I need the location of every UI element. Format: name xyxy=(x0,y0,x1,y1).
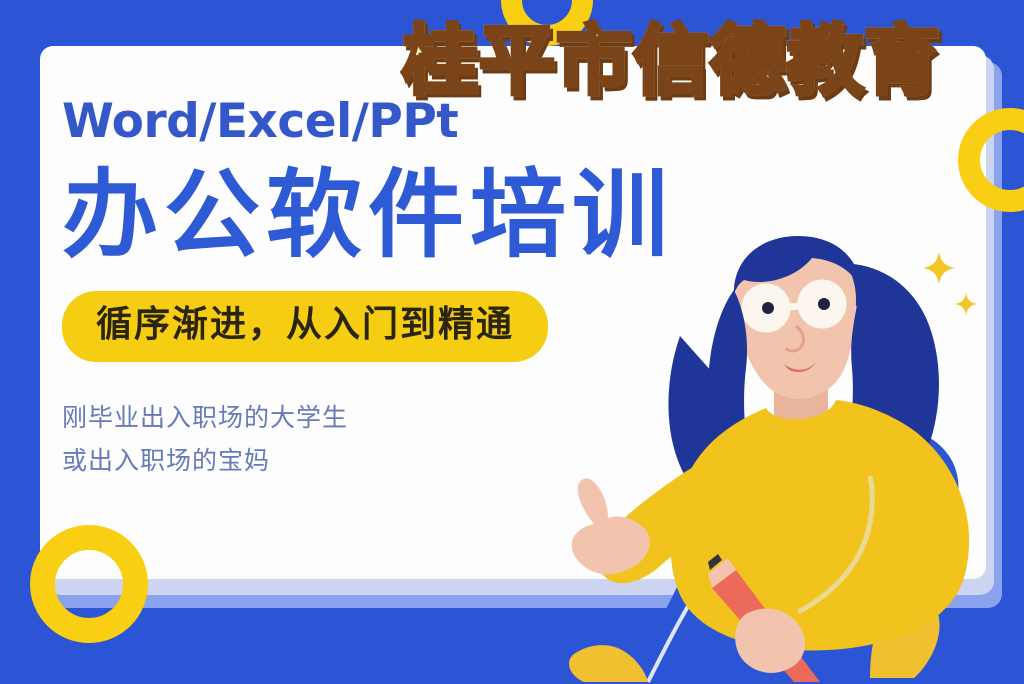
yellow-ring-bottom-left-icon xyxy=(30,525,148,643)
poster-canvas: Word/Excel/PPt 办公软件培训 循序渐进，从入门到精通 刚毕业出入职… xyxy=(0,0,1024,684)
holding-hand xyxy=(735,609,805,673)
page-title: 办公软件培训 xyxy=(62,162,762,270)
watermark-brand-text: 桂平市信德教育 xyxy=(402,23,941,99)
text-column: Word/Excel/PPt 办公软件培训 循序渐进，从入门到精通 刚毕业出入职… xyxy=(62,96,762,483)
sparkle-large-icon xyxy=(923,252,955,284)
audience-line-2: 或出入职场的宝妈 xyxy=(62,439,762,483)
audience-list: 刚毕业出入职场的大学生 或出入职场的宝妈 xyxy=(62,396,762,484)
tagline-badge: 循序渐进，从入门到精通 xyxy=(62,291,548,361)
sparkle-small-icon xyxy=(955,293,977,315)
audience-line-1: 刚毕业出入职场的大学生 xyxy=(62,396,762,440)
